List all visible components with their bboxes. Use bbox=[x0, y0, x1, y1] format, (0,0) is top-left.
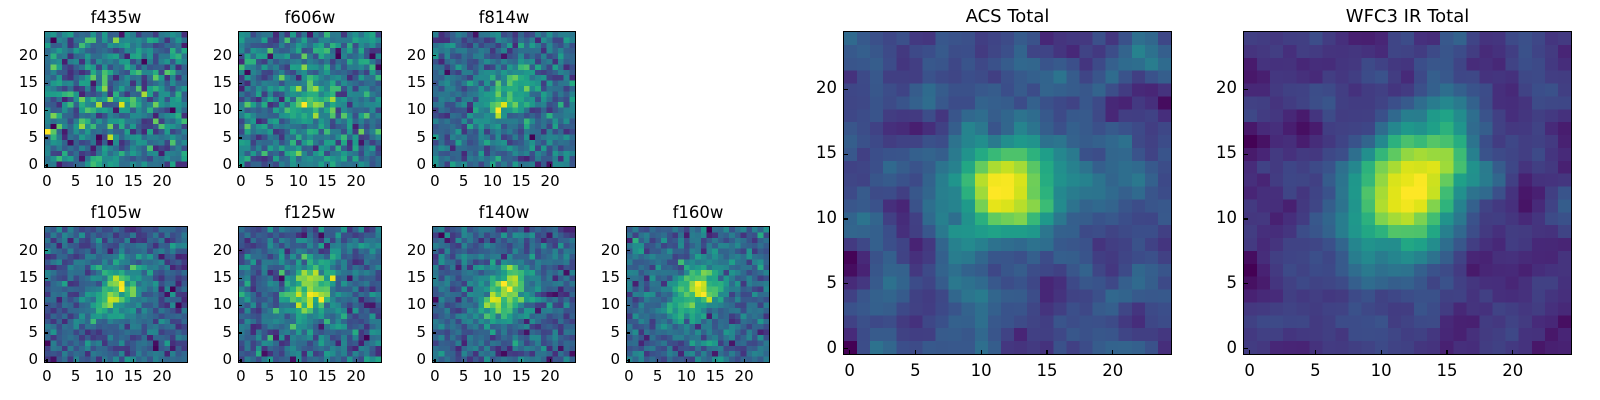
ytick-mark bbox=[44, 83, 48, 84]
xtick-label: 20 bbox=[520, 367, 580, 385]
ytick-mark bbox=[432, 137, 436, 138]
xtick-mark bbox=[46, 359, 47, 363]
ytick-label: 15 bbox=[1177, 143, 1237, 162]
panel-title-f160w: f160w bbox=[626, 203, 770, 222]
ytick-label: 0 bbox=[560, 350, 620, 368]
xtick-mark bbox=[269, 359, 270, 363]
ytick-mark bbox=[432, 332, 436, 333]
xtick-mark bbox=[75, 359, 76, 363]
ytick-mark bbox=[238, 332, 242, 333]
panel-image-f140w bbox=[432, 226, 576, 363]
xtick-label: 10 bbox=[268, 172, 328, 190]
ytick-mark bbox=[44, 332, 48, 333]
xtick-mark bbox=[521, 164, 522, 168]
ytick-mark bbox=[1243, 154, 1248, 155]
ytick-mark bbox=[1243, 283, 1248, 284]
xtick-label: 20 bbox=[326, 172, 386, 190]
xtick-label: 5 bbox=[628, 367, 688, 385]
panel-title-f140w: f140w bbox=[432, 203, 576, 222]
xtick-mark bbox=[521, 359, 522, 363]
ytick-label: 10 bbox=[366, 295, 426, 313]
panel-title-wfc3-ir-total: WFC3 IR Total bbox=[1243, 6, 1572, 27]
xtick-mark bbox=[104, 359, 105, 363]
ytick-label: 10 bbox=[560, 295, 620, 313]
xtick-mark bbox=[162, 359, 163, 363]
xtick-label: 15 bbox=[103, 172, 163, 190]
xtick-mark bbox=[104, 164, 105, 168]
ytick-mark bbox=[432, 165, 436, 166]
xtick-mark bbox=[628, 359, 629, 363]
xtick-label: 10 bbox=[462, 367, 522, 385]
xtick-mark bbox=[686, 359, 687, 363]
panel-image-f160w bbox=[626, 226, 770, 363]
panel-f160w: f160w0510152005101520 bbox=[0, 0, 1600, 400]
ytick-mark bbox=[626, 278, 630, 279]
ytick-label: 10 bbox=[172, 295, 232, 313]
ytick-label: 0 bbox=[1177, 338, 1237, 357]
xtick-label: 15 bbox=[685, 367, 745, 385]
heatmap-canvas-f140w bbox=[433, 227, 575, 362]
ytick-label: 0 bbox=[172, 155, 232, 173]
ytick-label: 15 bbox=[560, 268, 620, 286]
xtick-mark bbox=[356, 359, 357, 363]
ytick-mark bbox=[238, 55, 242, 56]
ytick-mark bbox=[843, 218, 848, 219]
xtick-label: 5 bbox=[434, 367, 494, 385]
ytick-label: 5 bbox=[777, 273, 837, 292]
panel-f125w: f125w0510152005101520 bbox=[0, 0, 1600, 400]
panel-image-f105w bbox=[44, 226, 188, 363]
xtick-mark bbox=[492, 164, 493, 168]
xtick-label: 15 bbox=[297, 367, 357, 385]
ytick-mark bbox=[432, 250, 436, 251]
xtick-mark bbox=[240, 359, 241, 363]
xtick-label: 15 bbox=[491, 367, 551, 385]
ytick-mark bbox=[44, 110, 48, 111]
ytick-label: 20 bbox=[1177, 78, 1237, 97]
ytick-mark bbox=[238, 250, 242, 251]
xtick-label: 15 bbox=[297, 172, 357, 190]
ytick-label: 15 bbox=[172, 73, 232, 91]
ytick-mark bbox=[44, 360, 48, 361]
ytick-mark bbox=[238, 137, 242, 138]
ytick-mark bbox=[1243, 348, 1248, 349]
xtick-label: 20 bbox=[1083, 361, 1143, 380]
xtick-label: 0 bbox=[405, 172, 465, 190]
ytick-label: 15 bbox=[172, 268, 232, 286]
xtick-label: 20 bbox=[132, 367, 192, 385]
ytick-mark bbox=[843, 89, 848, 90]
xtick-mark bbox=[356, 164, 357, 168]
ytick-label: 5 bbox=[172, 128, 232, 146]
panel-f606w: f606w0510152005101520 bbox=[0, 0, 1600, 400]
ytick-mark bbox=[1243, 89, 1248, 90]
xtick-mark bbox=[463, 164, 464, 168]
xtick-label: 15 bbox=[1017, 361, 1077, 380]
xtick-label: 5 bbox=[240, 367, 300, 385]
xtick-label: 5 bbox=[434, 172, 494, 190]
heatmap-canvas-f125w bbox=[239, 227, 381, 362]
xtick-label: 5 bbox=[46, 172, 106, 190]
xtick-label: 10 bbox=[74, 172, 134, 190]
panel-image-f814w bbox=[432, 31, 576, 168]
ytick-label: 10 bbox=[366, 100, 426, 118]
xtick-mark bbox=[240, 164, 241, 168]
panel-acs-total: ACS Total0510152005101520 bbox=[0, 0, 1600, 400]
ytick-label: 20 bbox=[0, 46, 38, 64]
xtick-label: 5 bbox=[46, 367, 106, 385]
xtick-label: 10 bbox=[951, 361, 1011, 380]
ytick-label: 0 bbox=[172, 350, 232, 368]
ytick-label: 5 bbox=[560, 323, 620, 341]
heatmap-canvas-f160w bbox=[627, 227, 769, 362]
xtick-label: 10 bbox=[656, 367, 716, 385]
ytick-mark bbox=[843, 154, 848, 155]
ytick-label: 15 bbox=[366, 73, 426, 91]
xtick-label: 0 bbox=[599, 367, 659, 385]
ytick-label: 20 bbox=[366, 241, 426, 259]
panel-image-f435w bbox=[44, 31, 188, 168]
xtick-label: 0 bbox=[820, 361, 880, 380]
xtick-label: 15 bbox=[491, 172, 551, 190]
heatmap-canvas-acs-total bbox=[844, 32, 1171, 354]
xtick-label: 15 bbox=[103, 367, 163, 385]
panel-image-wfc3-ir-total bbox=[1243, 31, 1572, 355]
ytick-label: 5 bbox=[0, 323, 38, 341]
panel-title-f814w: f814w bbox=[432, 8, 576, 27]
panel-f140w: f140w0510152005101520 bbox=[0, 0, 1600, 400]
panel-image-f606w bbox=[238, 31, 382, 168]
ytick-label: 20 bbox=[172, 241, 232, 259]
xtick-label: 0 bbox=[211, 367, 271, 385]
ytick-label: 10 bbox=[1177, 208, 1237, 227]
heatmap-canvas-f435w bbox=[45, 32, 187, 167]
ytick-mark bbox=[432, 360, 436, 361]
xtick-label: 20 bbox=[132, 172, 192, 190]
xtick-label: 10 bbox=[1351, 361, 1411, 380]
xtick-mark bbox=[133, 359, 134, 363]
xtick-mark bbox=[550, 164, 551, 168]
panel-image-acs-total bbox=[843, 31, 1172, 355]
xtick-label: 20 bbox=[714, 367, 774, 385]
ytick-mark bbox=[432, 278, 436, 279]
ytick-mark bbox=[44, 165, 48, 166]
heatmap-canvas-f814w bbox=[433, 32, 575, 167]
xtick-mark bbox=[434, 359, 435, 363]
ytick-mark bbox=[626, 360, 630, 361]
xtick-label: 0 bbox=[17, 367, 77, 385]
ytick-mark bbox=[843, 283, 848, 284]
ytick-mark bbox=[626, 305, 630, 306]
ytick-label: 5 bbox=[366, 128, 426, 146]
xtick-mark bbox=[298, 164, 299, 168]
ytick-mark bbox=[44, 305, 48, 306]
ytick-mark bbox=[1243, 218, 1248, 219]
ytick-label: 15 bbox=[0, 73, 38, 91]
xtick-mark bbox=[1112, 350, 1113, 355]
xtick-mark bbox=[327, 359, 328, 363]
ytick-label: 15 bbox=[777, 143, 837, 162]
xtick-mark bbox=[1512, 350, 1513, 355]
xtick-mark bbox=[133, 164, 134, 168]
xtick-label: 10 bbox=[462, 172, 522, 190]
ytick-mark bbox=[44, 250, 48, 251]
panel-title-f435w: f435w bbox=[44, 8, 188, 27]
panel-title-f125w: f125w bbox=[238, 203, 382, 222]
ytick-label: 10 bbox=[172, 100, 232, 118]
xtick-mark bbox=[1446, 350, 1447, 355]
ytick-mark bbox=[238, 83, 242, 84]
ytick-label: 5 bbox=[0, 128, 38, 146]
panel-f435w: f435w0510152005101520 bbox=[0, 0, 1600, 400]
ytick-label: 0 bbox=[777, 338, 837, 357]
ytick-mark bbox=[432, 55, 436, 56]
ytick-mark bbox=[238, 110, 242, 111]
ytick-label: 10 bbox=[777, 208, 837, 227]
ytick-mark bbox=[432, 305, 436, 306]
xtick-label: 20 bbox=[326, 367, 386, 385]
ytick-mark bbox=[238, 360, 242, 361]
xtick-mark bbox=[657, 359, 658, 363]
ytick-label: 0 bbox=[0, 350, 38, 368]
xtick-mark bbox=[492, 359, 493, 363]
ytick-label: 20 bbox=[366, 46, 426, 64]
panel-f105w: f105w0510152005101520 bbox=[0, 0, 1600, 400]
xtick-mark bbox=[849, 350, 850, 355]
ytick-label: 20 bbox=[0, 241, 38, 259]
xtick-label: 5 bbox=[885, 361, 945, 380]
ytick-label: 10 bbox=[0, 295, 38, 313]
ytick-mark bbox=[44, 55, 48, 56]
ytick-label: 20 bbox=[777, 78, 837, 97]
ytick-mark bbox=[238, 305, 242, 306]
xtick-mark bbox=[298, 359, 299, 363]
ytick-mark bbox=[238, 278, 242, 279]
xtick-label: 10 bbox=[74, 367, 134, 385]
xtick-mark bbox=[46, 164, 47, 168]
xtick-mark bbox=[744, 359, 745, 363]
xtick-mark bbox=[715, 359, 716, 363]
heatmap-canvas-f606w bbox=[239, 32, 381, 167]
xtick-label: 0 bbox=[405, 367, 465, 385]
ytick-mark bbox=[44, 137, 48, 138]
xtick-mark bbox=[327, 164, 328, 168]
figure-canvas: f435w0510152005101520f606w05101520051015… bbox=[0, 0, 1600, 400]
heatmap-canvas-f105w bbox=[45, 227, 187, 362]
heatmap-canvas-wfc3-ir-total bbox=[1244, 32, 1571, 354]
xtick-label: 5 bbox=[240, 172, 300, 190]
panel-title-f606w: f606w bbox=[238, 8, 382, 27]
panel-image-f125w bbox=[238, 226, 382, 363]
xtick-mark bbox=[1315, 350, 1316, 355]
ytick-label: 5 bbox=[172, 323, 232, 341]
xtick-mark bbox=[75, 164, 76, 168]
ytick-label: 5 bbox=[366, 323, 426, 341]
ytick-label: 20 bbox=[560, 241, 620, 259]
xtick-label: 20 bbox=[520, 172, 580, 190]
panel-f814w: f814w0510152005101520 bbox=[0, 0, 1600, 400]
panel-wfc3-ir-total: WFC3 IR Total0510152005101520 bbox=[0, 0, 1600, 400]
xtick-mark bbox=[463, 359, 464, 363]
xtick-label: 0 bbox=[17, 172, 77, 190]
ytick-label: 15 bbox=[366, 268, 426, 286]
ytick-mark bbox=[432, 83, 436, 84]
ytick-mark bbox=[44, 278, 48, 279]
ytick-label: 10 bbox=[0, 100, 38, 118]
xtick-mark bbox=[1046, 350, 1047, 355]
xtick-mark bbox=[550, 359, 551, 363]
xtick-mark bbox=[1249, 350, 1250, 355]
xtick-label: 0 bbox=[1220, 361, 1280, 380]
xtick-mark bbox=[269, 164, 270, 168]
ytick-label: 20 bbox=[172, 46, 232, 64]
ytick-mark bbox=[432, 110, 436, 111]
panel-title-f105w: f105w bbox=[44, 203, 188, 222]
ytick-label: 5 bbox=[1177, 273, 1237, 292]
ytick-mark bbox=[626, 250, 630, 251]
ytick-label: 0 bbox=[0, 155, 38, 173]
ytick-mark bbox=[238, 165, 242, 166]
ytick-label: 15 bbox=[0, 268, 38, 286]
panel-title-acs-total: ACS Total bbox=[843, 6, 1172, 27]
ytick-mark bbox=[626, 332, 630, 333]
xtick-mark bbox=[1381, 350, 1382, 355]
xtick-label: 0 bbox=[211, 172, 271, 190]
xtick-label: 5 bbox=[1285, 361, 1345, 380]
xtick-label: 20 bbox=[1483, 361, 1543, 380]
ytick-mark bbox=[843, 348, 848, 349]
xtick-label: 10 bbox=[268, 367, 328, 385]
ytick-label: 0 bbox=[366, 155, 426, 173]
ytick-label: 0 bbox=[366, 350, 426, 368]
xtick-mark bbox=[434, 164, 435, 168]
xtick-mark bbox=[915, 350, 916, 355]
xtick-mark bbox=[162, 164, 163, 168]
xtick-label: 15 bbox=[1417, 361, 1477, 380]
xtick-mark bbox=[981, 350, 982, 355]
